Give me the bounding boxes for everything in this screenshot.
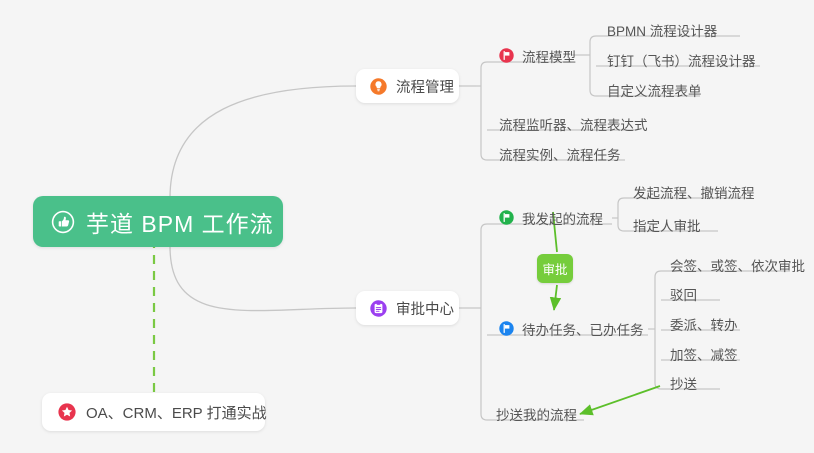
node-add-remove-sign[interactable]: 加签、减签 (664, 340, 745, 367)
node-bpmn-designer[interactable]: BPMN 流程设计器 (601, 16, 724, 43)
flag-icon (499, 48, 514, 63)
node-process-model[interactable]: 流程模型 (493, 42, 583, 69)
node-process-instance-task[interactable]: 流程实例、流程任务 (493, 140, 628, 167)
thumbs-up-icon (51, 210, 75, 234)
branch-label: 流程管理 (396, 76, 454, 97)
node-cc[interactable]: 抄送 (664, 369, 704, 396)
flag-icon (499, 210, 514, 225)
node-label: 自定义流程表单 (607, 80, 702, 100)
lightbulb-icon (370, 78, 387, 95)
node-process-listener-expression[interactable]: 流程监听器、流程表达式 (493, 110, 655, 137)
clipboard-icon (370, 300, 387, 317)
node-label: 钉钉（飞书）流程设计器 (607, 50, 756, 70)
node-reject[interactable]: 驳回 (664, 280, 704, 307)
node-cc-to-me-processes[interactable]: 抄送我的流程 (490, 400, 584, 427)
node-label: 抄送 (670, 373, 697, 393)
node-delegate-transfer[interactable]: 委派、转办 (664, 310, 745, 337)
node-label: 流程监听器、流程表达式 (499, 114, 648, 134)
mindmap-canvas: 芋道 BPM 工作流 流程管理 流程模型 流程监听器、流程表达式 流程实例、流 (0, 0, 814, 453)
node-label: 会签、或签、依次审批 (670, 255, 805, 275)
node-label: BPMN 流程设计器 (607, 20, 717, 40)
node-dingtalk-feishu-designer[interactable]: 钉钉（飞书）流程设计器 (601, 46, 763, 73)
node-label: 发起流程、撤销流程 (633, 182, 755, 202)
node-label: 委派、转办 (670, 314, 738, 334)
branch-process-management[interactable]: 流程管理 (356, 69, 459, 103)
node-label: 我发起的流程 (522, 208, 603, 228)
root-node[interactable]: 芋道 BPM 工作流 (33, 196, 283, 247)
node-my-started-processes[interactable]: 我发起的流程 (493, 204, 610, 231)
node-start-cancel-process[interactable]: 发起流程、撤销流程 (627, 178, 762, 205)
node-label: 驳回 (670, 284, 697, 304)
node-label: 待办任务、已办任务 (522, 319, 644, 339)
branch-label: 审批中心 (396, 298, 454, 319)
flag-icon (499, 321, 514, 336)
node-assignee-approval[interactable]: 指定人审批 (627, 211, 708, 238)
node-label: 指定人审批 (633, 215, 701, 235)
callout-oa-crm-erp[interactable]: OA、CRM、ERP 打通实战 (42, 393, 265, 431)
approval-badge[interactable]: 审批 (537, 254, 573, 283)
branch-approval-center[interactable]: 审批中心 (356, 291, 459, 325)
node-custom-process-form[interactable]: 自定义流程表单 (601, 76, 709, 103)
callout-label: OA、CRM、ERP 打通实战 (86, 402, 267, 423)
node-label: 加签、减签 (670, 344, 738, 364)
node-todo-done-tasks[interactable]: 待办任务、已办任务 (493, 315, 651, 342)
node-label: 流程模型 (522, 46, 576, 66)
node-label: 流程实例、流程任务 (499, 144, 621, 164)
approval-badge-label: 审批 (542, 259, 567, 278)
star-icon (58, 403, 76, 421)
node-label: 抄送我的流程 (496, 404, 577, 424)
root-label: 芋道 BPM 工作流 (86, 205, 274, 239)
node-countersign-or-sequential[interactable]: 会签、或签、依次审批 (664, 251, 812, 278)
